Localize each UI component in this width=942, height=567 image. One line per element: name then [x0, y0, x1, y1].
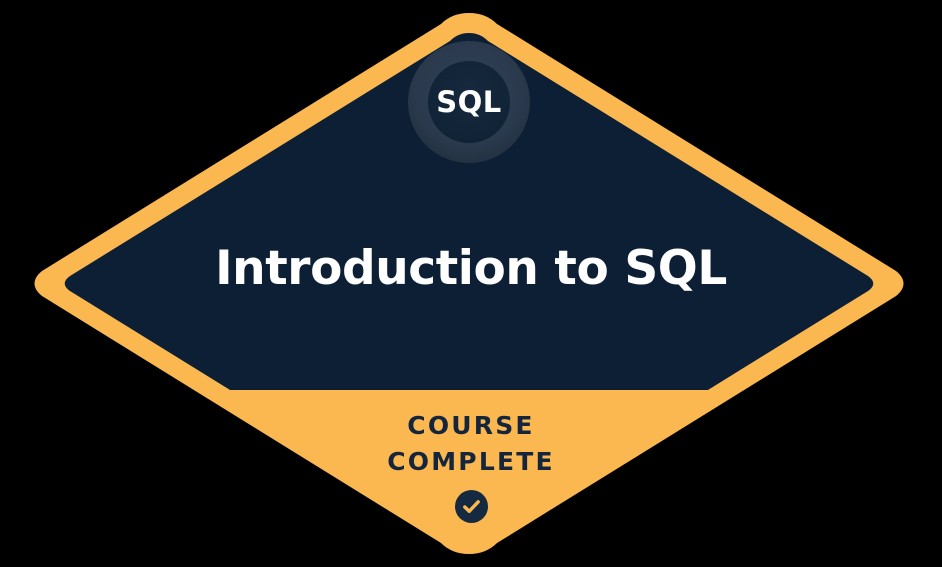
course-completion-badge: SQL Introduction to SQL COURSE COMPLETE [0, 0, 942, 567]
sql-ring-badge [408, 41, 530, 163]
diamond-badge-graphic [0, 0, 942, 567]
